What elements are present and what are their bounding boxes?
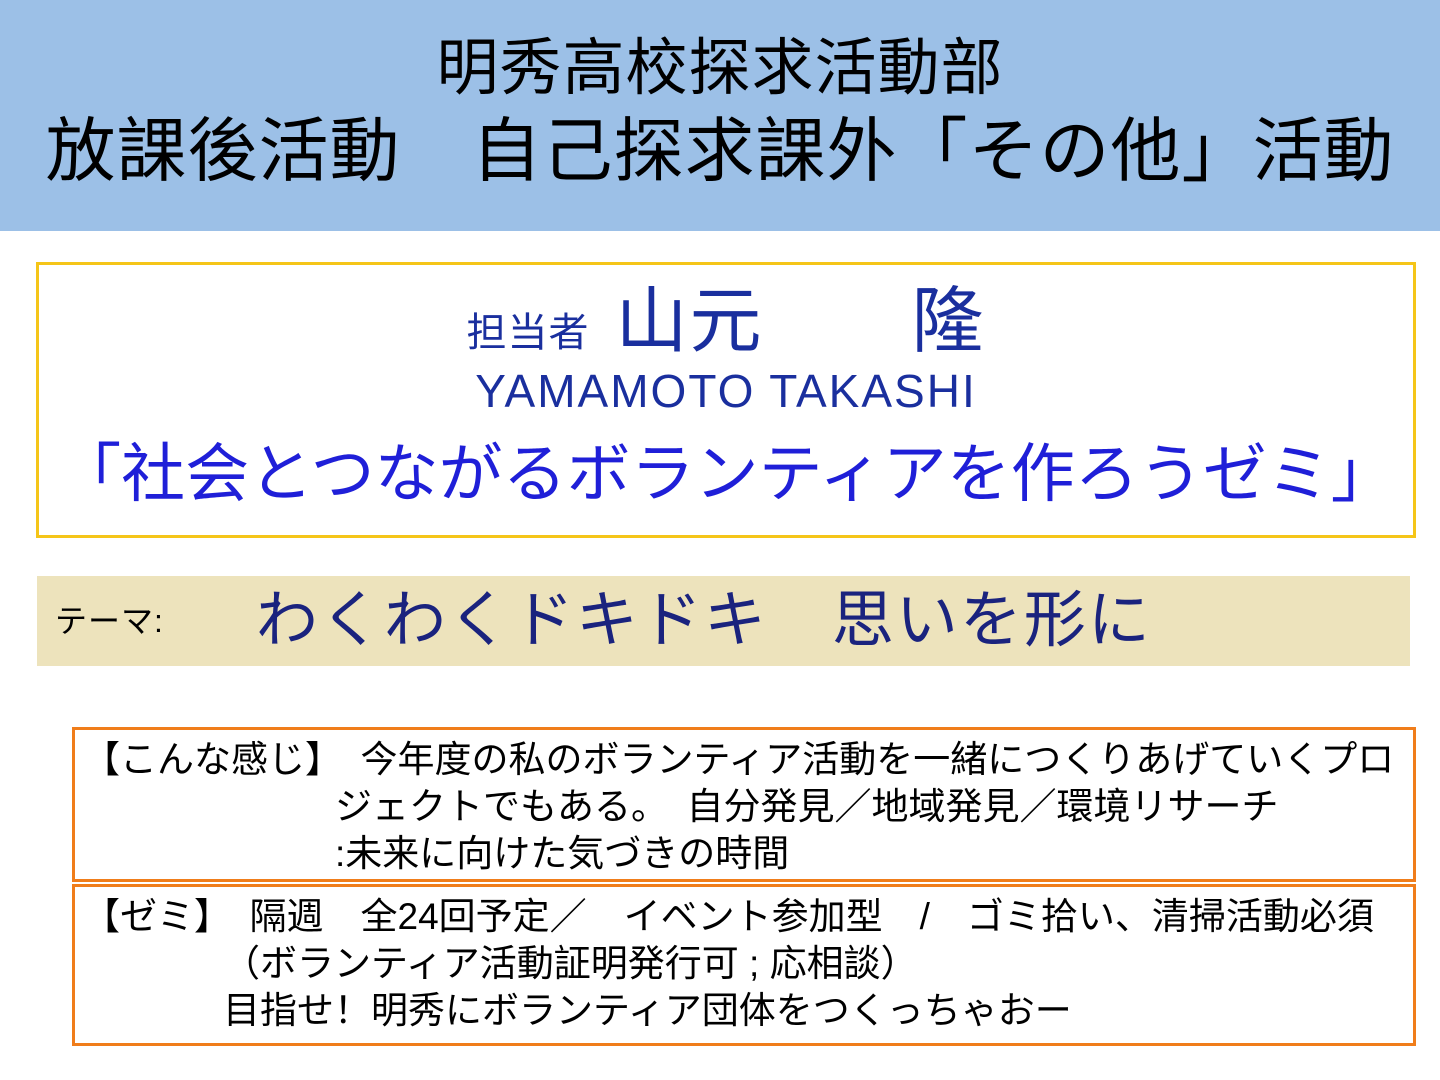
teacher-name-japanese: 山元 隆 — [615, 283, 985, 361]
overview-line-1: 【こんな感じ】 今年度の私のボランティア活動を一緒につくりあげていくプロ — [83, 736, 1405, 783]
seminar-line-3: 目指せ！明秀にボランティア団体をつくっちゃおー — [83, 987, 1405, 1034]
overview-box: 【こんな感じ】 今年度の私のボランティア活動を一緒につくりあげていくプロ ジェク… — [72, 727, 1416, 882]
teacher-row: 担当者 山元 隆 — [466, 283, 985, 361]
teacher-name-box: 担当者 山元 隆 YAMAMOTO TAKASHI 「社会とつながるボランティア… — [36, 262, 1416, 538]
overview-line-3: :未来に向けた気づきの時間 — [83, 830, 1405, 877]
teacher-role-label: 担当者 — [466, 310, 589, 356]
header-title-line-1: 明秀高校探求活動部 — [436, 30, 1003, 108]
theme-label: テーマ: — [55, 602, 164, 640]
seminar-line-1: 【ゼミ】 隔週 全24回予定／ イベント参加型 / ゴミ拾い、清掃活動必須 — [83, 893, 1405, 940]
header-title-line-2: 放課後活動 自己探求課外「その他」活動 — [46, 108, 1395, 194]
theme-text: わくわくドキドキ 思いを形に — [256, 585, 1152, 657]
header-banner: 明秀高校探求活動部 放課後活動 自己探求課外「その他」活動 — [0, 0, 1440, 231]
teacher-name-romaji: YAMAMOTO TAKASHI — [475, 363, 976, 419]
slide-canvas: 明秀高校探求活動部 放課後活動 自己探求課外「その他」活動 担当者 山元 隆 Y… — [0, 0, 1440, 1080]
seminar-title: 「社会とつながるボランティアを作ろうゼミ」 — [57, 433, 1395, 515]
overview-line-2: ジェクトでもある。 自分発見／地域発見／環境リサーチ — [83, 783, 1405, 830]
theme-band: テーマ: わくわくドキドキ 思いを形に — [37, 576, 1410, 666]
seminar-line-2: （ボランティア活動証明発行可 ; 応相談） — [83, 940, 1405, 987]
seminar-box: 【ゼミ】 隔週 全24回予定／ イベント参加型 / ゴミ拾い、清掃活動必須 （ボ… — [72, 884, 1416, 1046]
